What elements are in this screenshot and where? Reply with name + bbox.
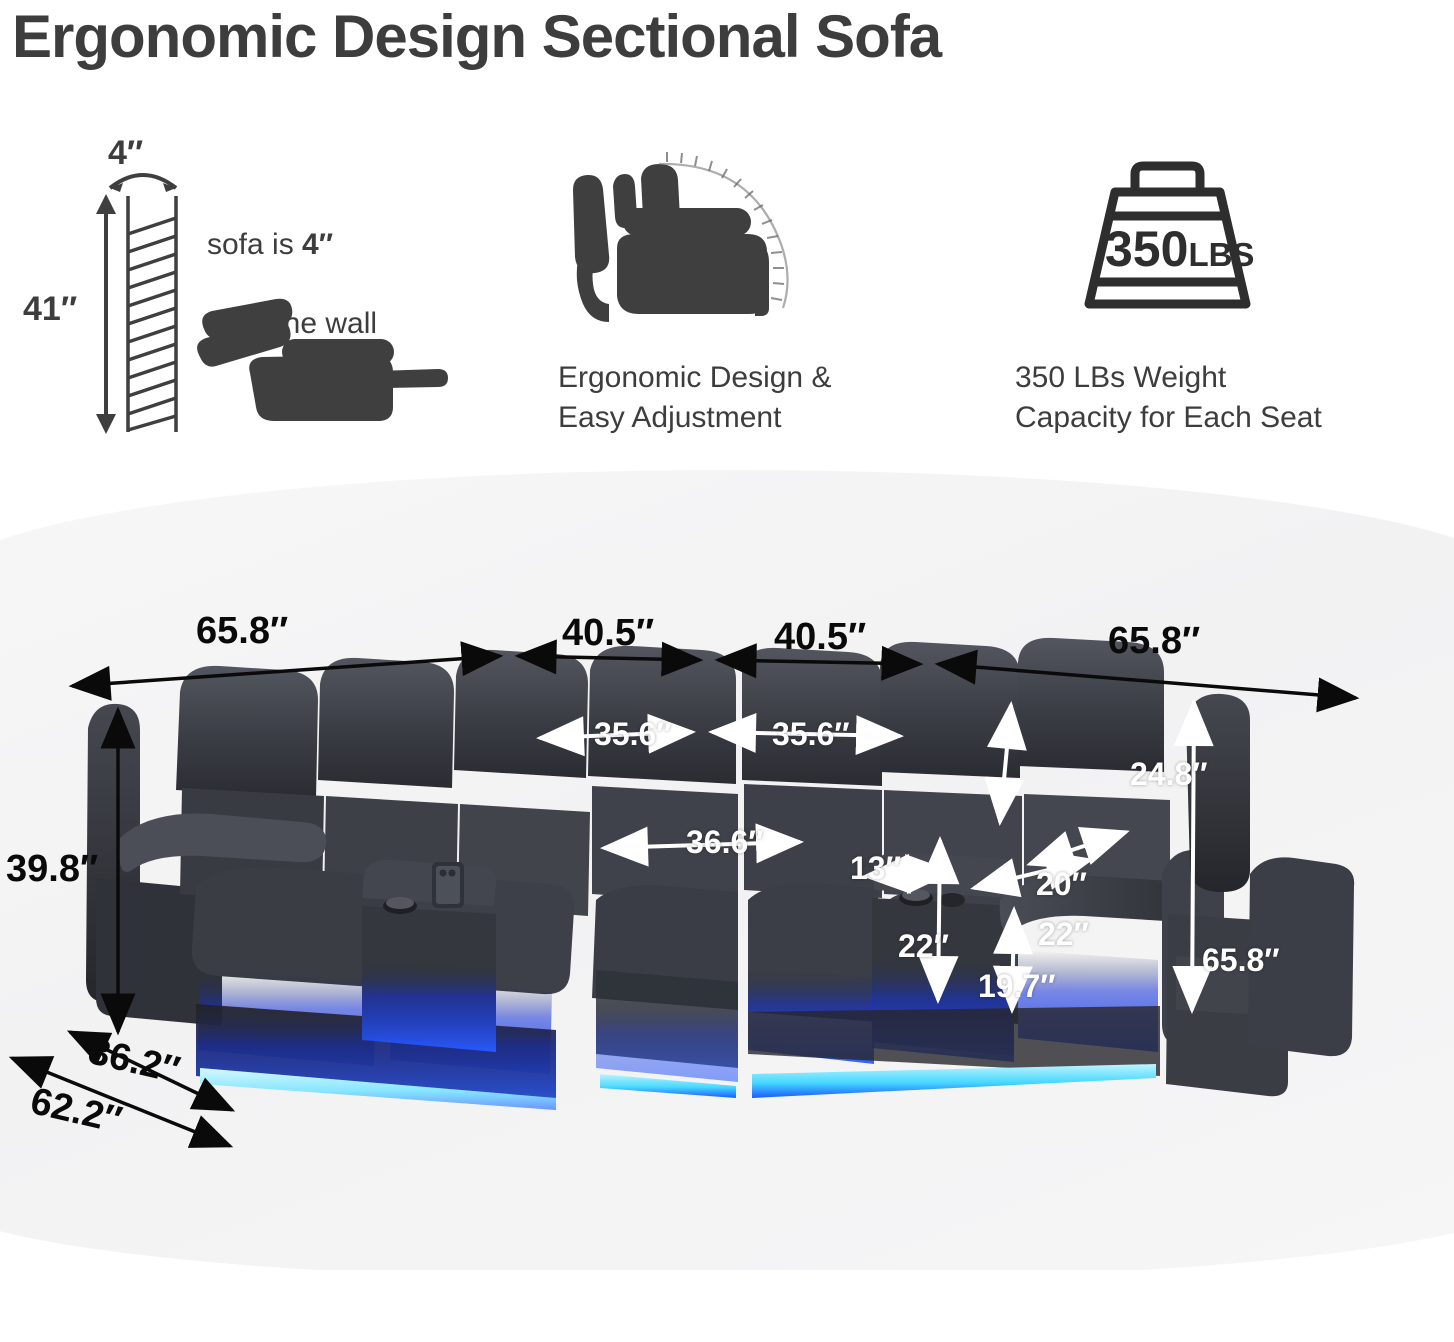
dim-seat-depth-20: 20″ xyxy=(1036,866,1087,903)
wall-text-a: sofa is xyxy=(207,228,302,261)
dim-overall-height: 39.8″ xyxy=(6,848,98,891)
dim-seat-width-197: 19.7″ xyxy=(978,968,1056,1005)
dim-wall-height: 41″ xyxy=(23,290,77,329)
sofa-diagram: 65.8″ 40.5″ 40.5″ 65.8″ 35.6″ 35.6″ 24.8… xyxy=(0,470,1454,1170)
dim-left-center-width: 40.5″ xyxy=(562,612,654,655)
weight-block-icon: 350LBS xyxy=(1075,158,1260,313)
feature-weight-capacity: 350LBS 350 LBs Weight Capacity for Each … xyxy=(1010,158,1440,458)
wall-text-bold: 4″ xyxy=(302,228,333,261)
feature-ergonomic-label: Ergonomic Design & Easy Adjustment xyxy=(558,358,958,437)
dim-seat-height: 22″ xyxy=(898,928,949,965)
dimension-arrows xyxy=(0,470,1454,1170)
dim-left-section-width: 65.8″ xyxy=(196,610,288,653)
dim-right-arm-length: 65.8″ xyxy=(1202,942,1280,979)
dim-corner-seat-width: 36.6″ xyxy=(686,824,764,861)
page-title: Ergonomic Design Sectional Sofa xyxy=(12,2,941,71)
wall-clearance-recliner-icon: 4″ 41″ xyxy=(78,140,208,440)
dim-left-seat-back-width: 35.6″ xyxy=(594,716,672,753)
recliner-silhouette-icon xyxy=(190,295,440,425)
dim-console-width: 13″ xyxy=(850,850,901,887)
recliner-protractor-icon xyxy=(555,148,825,328)
dim-right-center-width: 40.5″ xyxy=(774,616,866,659)
dim-backrest-height: 24.8″ xyxy=(1130,756,1208,793)
dim-seat-depth-22: 22″ xyxy=(1038,916,1089,953)
feature-weight-label: 350 LBs Weight Capacity for Each Seat xyxy=(1015,358,1445,437)
feature-row: 4″ 41″ sofa is 4″ from the wall xyxy=(0,120,1454,460)
dim-right-section-width: 65.8″ xyxy=(1108,620,1200,663)
feature-wall-clearance: 4″ 41″ sofa is 4″ from the wall xyxy=(40,120,510,450)
dim-wall-gap: 4″ xyxy=(108,134,143,173)
dim-right-seat-back-width: 35.6″ xyxy=(772,716,850,753)
feature-ergonomic-design: Ergonomic Design & Easy Adjustment xyxy=(555,148,975,448)
